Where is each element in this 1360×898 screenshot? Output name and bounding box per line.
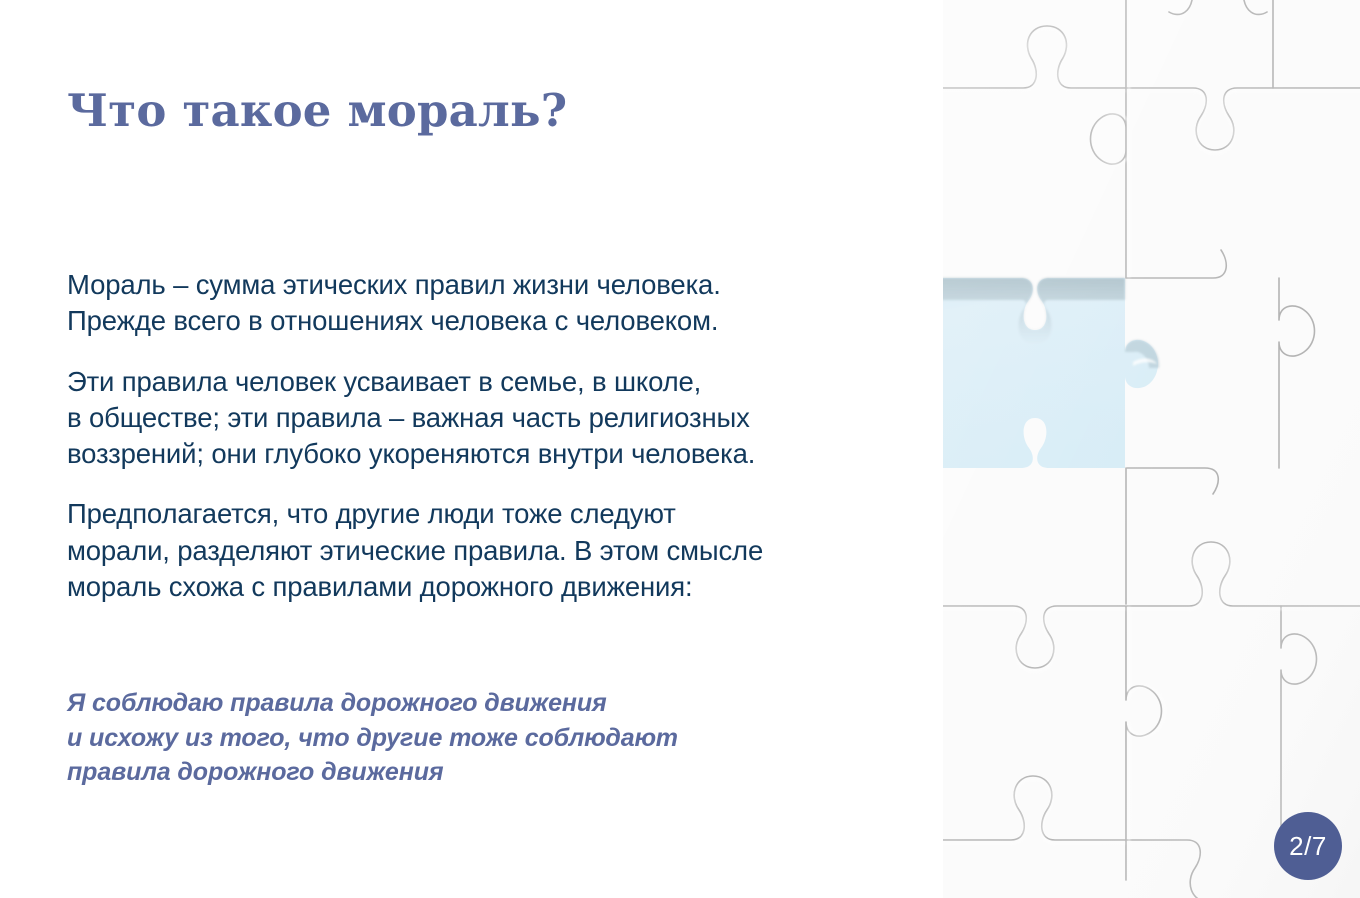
- body-text-block: Мораль – сумма этических правил жизни че…: [67, 267, 917, 605]
- paragraph-2: Эти правила человек усваивает в семье, в…: [67, 364, 917, 473]
- paragraph-3: Предполагается, что другие люди тоже сле…: [67, 496, 917, 605]
- quote-block: Я соблюдаю правила дорожного движения и …: [67, 686, 867, 790]
- quote-text: Я соблюдаю правила дорожного движения и …: [67, 686, 867, 790]
- page-title: Что такое мораль?: [67, 84, 567, 137]
- page-indicator-badge: 2/7: [1274, 812, 1342, 880]
- jigsaw-puzzle-image: [943, 0, 1360, 898]
- slide-content: Что такое мораль? Мораль – сумма этическ…: [0, 0, 943, 898]
- slide: Что такое мораль? Мораль – сумма этическ…: [0, 0, 1360, 898]
- jigsaw-puzzle-svg: [943, 0, 1360, 898]
- paragraph-1: Мораль – сумма этических правил жизни че…: [67, 267, 917, 340]
